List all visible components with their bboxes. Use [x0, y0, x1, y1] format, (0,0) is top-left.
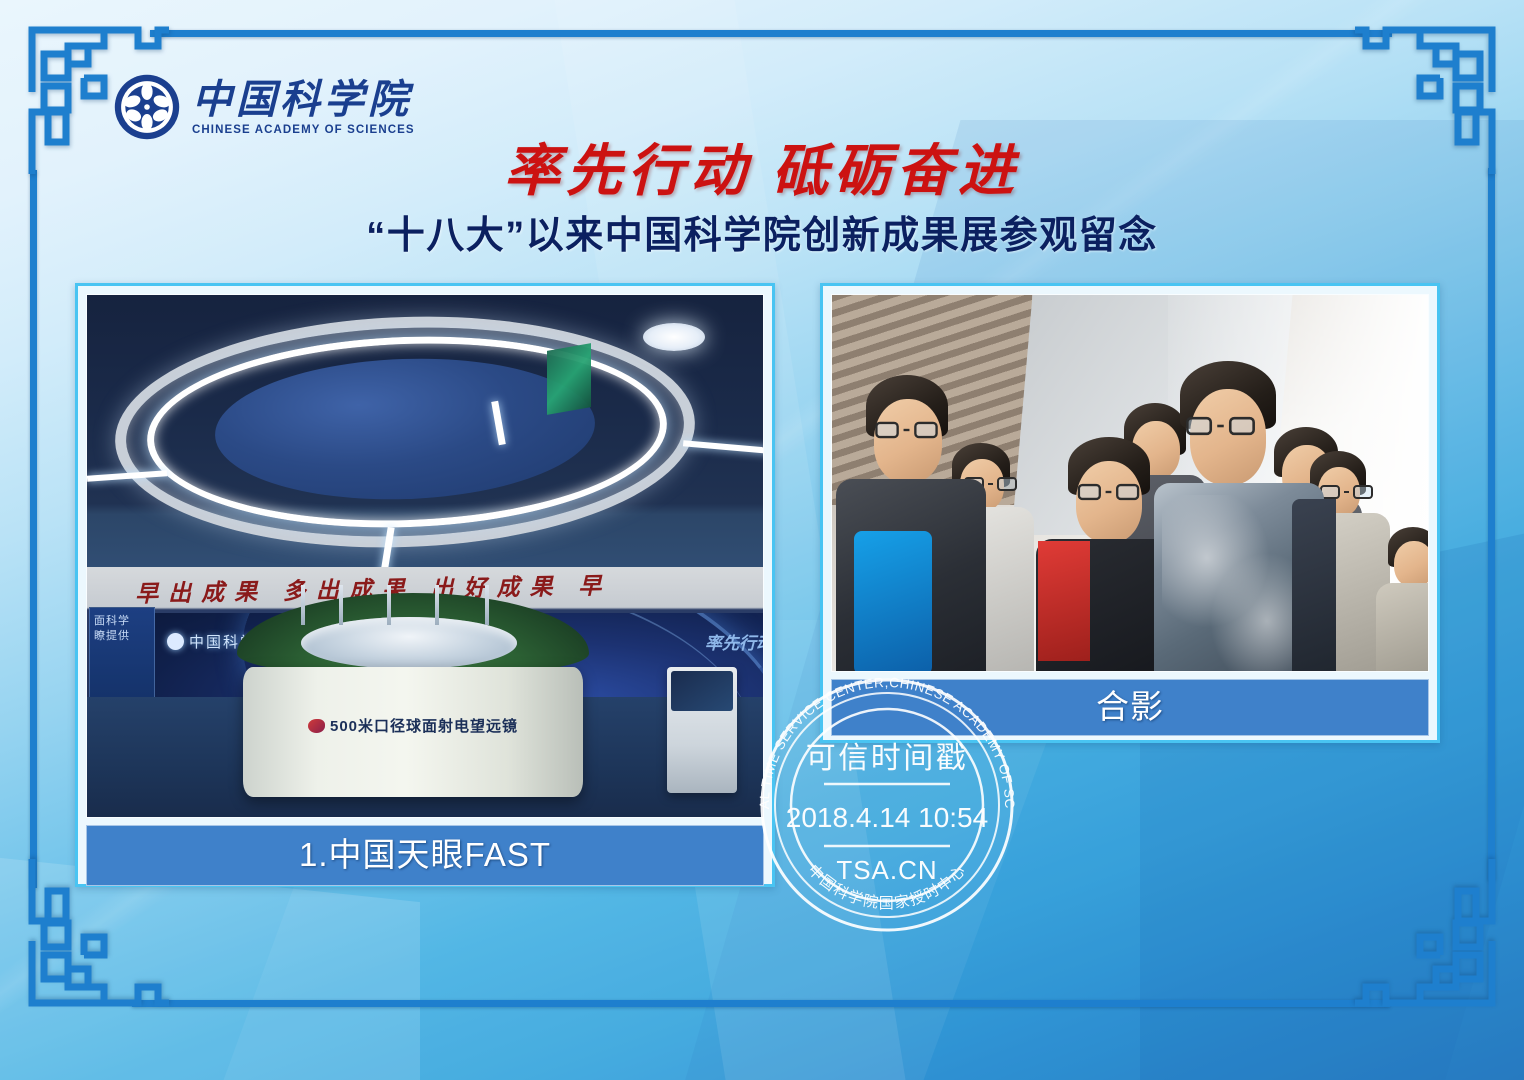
fast-tower [435, 585, 439, 625]
frame-left-line [30, 170, 37, 888]
main-title: 率先行动 砥砺奋进 [0, 126, 1524, 207]
logo-chinese-name: 中国科学院 [192, 79, 415, 121]
sub-title: “十八大”以来中国科学院创新成果展参观留念 [0, 204, 1524, 259]
frame-top-line [150, 30, 1392, 37]
backpack-strap [1292, 499, 1336, 671]
seal-timestamp: 2018.4.14 10:54 [786, 802, 988, 833]
side-poster-text: 面科学瞭提供 [94, 614, 150, 644]
exit-sign-icon [547, 343, 591, 415]
kiosk-screen [671, 671, 733, 711]
pedestal-label-text: 500米口径球面射电望远镜 [330, 718, 518, 735]
fast-tower [485, 585, 489, 625]
fast-tower [387, 585, 391, 625]
camo-pattern [1162, 495, 1312, 671]
caption-group: 合影 [831, 679, 1429, 736]
seal-heading: 可信时间戳 [806, 742, 969, 775]
info-kiosk [667, 667, 737, 793]
meander-corner-icon [1351, 855, 1496, 1007]
fast-tower [301, 585, 305, 625]
photo-group [831, 294, 1429, 672]
photo-panel-group: 合影 [820, 283, 1440, 743]
red-jacket [1038, 541, 1090, 661]
fast-logo-icon [308, 719, 325, 733]
wall-slogan-right: 率先行动 [705, 629, 764, 654]
frame-right-line [1488, 168, 1495, 880]
exhibition-hall-scene: 早出成果 多出成果 出好成果 早 中国科学院 率先行动 “中国天眼”——500米… [87, 295, 763, 817]
caption-fast: 1.中国天眼FAST [86, 825, 764, 886]
model-pedestal: 500米口径球面射电望远镜 [243, 667, 583, 797]
group-photo-scene [832, 295, 1428, 671]
fast-tower [339, 585, 343, 625]
photo-panel-fast: 早出成果 多出成果 出好成果 早 中国科学院 率先行动 “中国天眼”——500米… [75, 283, 775, 887]
frame-bottom-line [132, 1000, 1390, 1007]
svg-text:中国科学院国家授时中心: 中国科学院国家授时中心 [804, 862, 969, 912]
seal-domain: TSA.CN [836, 855, 937, 885]
seal-arc-bottom: 中国科学院国家授时中心 [804, 862, 969, 912]
tshirt-graphic [854, 531, 932, 671]
poster-canvas: 中国科学院 CHINESE ACADEMY OF SCIENCES 率先行动 砥… [0, 0, 1524, 1080]
ceiling-light-strip [683, 440, 764, 456]
pedestal-label: 500米口径球面射电望远镜 [243, 715, 583, 736]
cas-emblem-icon [167, 633, 184, 650]
photo-fast-exhibit: 早出成果 多出成果 出好成果 早 中国科学院 率先行动 “中国天眼”——500米… [86, 294, 764, 818]
ceiling-lamp-icon [643, 323, 705, 351]
